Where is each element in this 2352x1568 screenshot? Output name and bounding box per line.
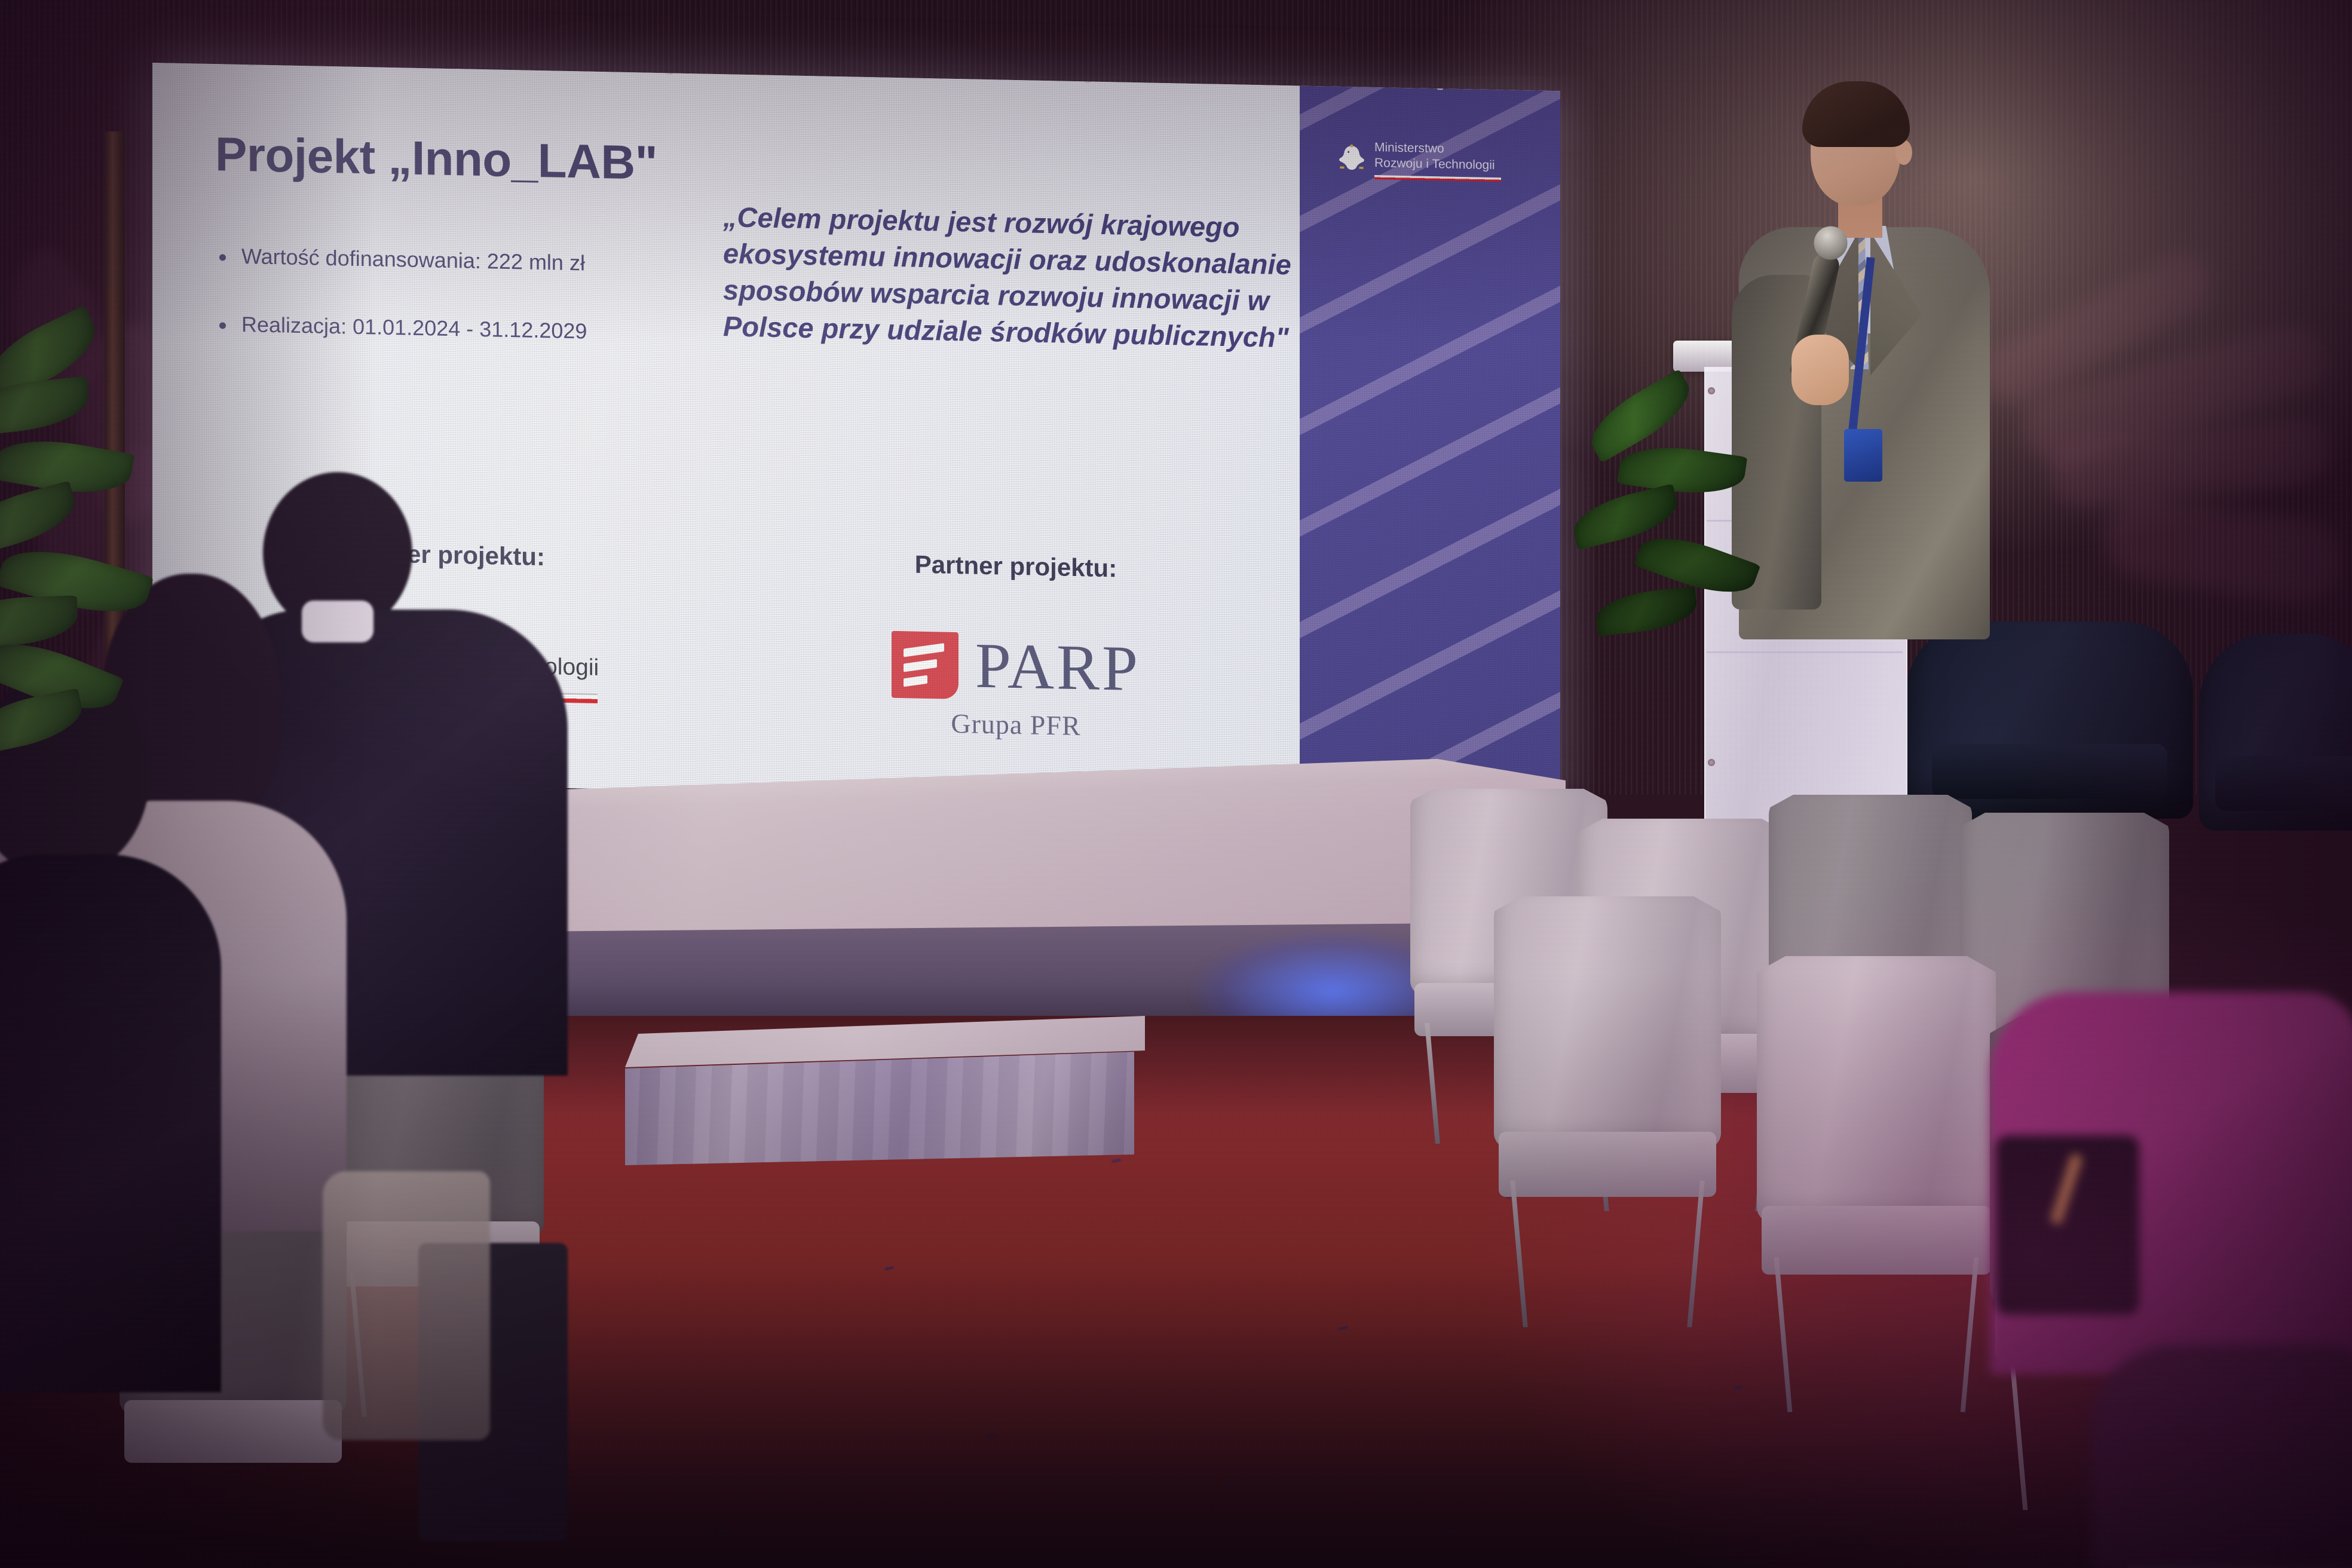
audience-member — [0, 675, 221, 1392]
lectern-shelf — [1707, 651, 1903, 653]
parp-mark-icon — [892, 631, 958, 699]
slide-title: Projekt „Inno_LAB" — [215, 127, 657, 191]
list-item: Realizacja: 01.01.2024 - 31.12.2029 — [219, 311, 715, 347]
audience-member — [1990, 956, 2352, 1374]
potted-plant — [0, 317, 173, 747]
lectern-bolt — [1708, 387, 1715, 394]
step-drape — [625, 1052, 1134, 1165]
bullet-text: Realizacja: 01.01.2024 - 31.12.2029 — [241, 312, 587, 344]
speaker-badge — [1844, 429, 1882, 482]
panel-diagonal-pattern — [1300, 86, 1560, 808]
panel-ministry-badge: Ministerstwo Rozwoju i Technologii — [1339, 139, 1501, 182]
project-partner-block: Partner projektu: PARP Grupa PFR — [780, 547, 1252, 745]
audience-member — [2091, 1345, 2352, 1568]
bullet-dot-icon — [219, 254, 226, 261]
audience-coat — [323, 1171, 490, 1440]
slide-accent-panel — [1300, 86, 1560, 808]
speaker-hand — [1791, 335, 1849, 405]
panel-ministry-line2: Rozwoju i Technologii — [1374, 155, 1501, 173]
slide-quote: „Celem projektu jest rozwój krajowego ek… — [723, 198, 1297, 356]
stage-armchair[interactable] — [2199, 633, 2352, 831]
potted-plant — [1584, 394, 1787, 651]
parp-wordmark: PARP — [975, 634, 1140, 702]
stage-step-box — [625, 1016, 1145, 1165]
lectern-bolt — [1708, 759, 1715, 766]
audience-chair[interactable] — [1494, 896, 1721, 1303]
speaker-hair — [1802, 81, 1910, 147]
stage-armchair[interactable] — [1906, 621, 2193, 819]
audience-chair[interactable] — [1757, 956, 1996, 1386]
parp-logo: PARP — [780, 629, 1252, 705]
conference-photo-scene: Projekt „Inno_LAB" Wartość dofinansowani… — [0, 0, 2352, 1568]
slide-bullet-list: Wartość dofinansowania: 222 mln zł Reali… — [219, 243, 715, 390]
bullet-dot-icon — [219, 322, 226, 329]
polish-eagle-icon — [1339, 143, 1365, 175]
